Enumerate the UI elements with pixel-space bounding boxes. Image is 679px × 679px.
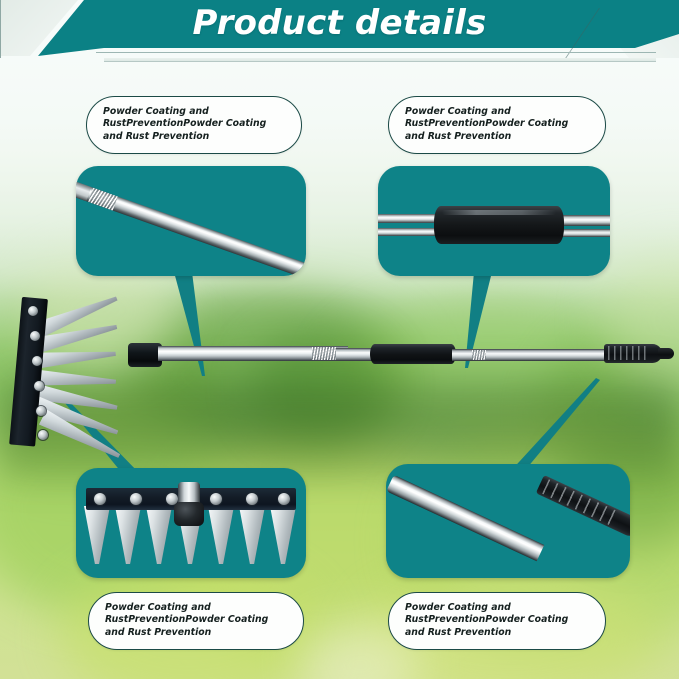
callout-bottom-left: Powder Coating and RustPreventionPowder … <box>88 592 304 650</box>
detail-steel-pole <box>76 180 306 276</box>
detail-rake-tine <box>270 506 296 564</box>
detail-rake-bolt <box>94 493 106 505</box>
callout-top-right: Powder Coating and RustPreventionPowder … <box>388 96 606 154</box>
detail-socket-connector <box>174 482 204 524</box>
detail-rake-bolt <box>210 493 222 505</box>
rake-middle-foam-grip <box>370 344 456 364</box>
detail-end-grip-ribs <box>542 479 618 526</box>
rake-head-bolt <box>34 381 44 391</box>
main-product-rake <box>0 280 679 480</box>
rake-socket-connector <box>128 343 162 367</box>
detail-rake-tine <box>146 506 172 564</box>
header-banner: Product details <box>0 0 679 66</box>
detail-end-pole <box>386 475 544 561</box>
rake-head-bolt <box>28 306 38 316</box>
detail-rake-tine <box>208 506 234 564</box>
detail-rake-bolt <box>278 493 290 505</box>
detail-rake-bolt <box>130 493 142 505</box>
rake-head-bolt <box>38 430 48 440</box>
rake-end-grip-ribs <box>608 346 648 360</box>
callout-bottom-right: Powder Coating and RustPreventionPowder … <box>388 592 606 650</box>
rake-head <box>8 298 128 463</box>
rake-pole-thread-joint-upper <box>472 350 486 360</box>
detail-pole-right-lower <box>560 229 610 237</box>
callout-top-left: Powder Coating and RustPreventionPowder … <box>86 96 302 154</box>
header-underline-thick <box>104 58 656 62</box>
detail-panel-end-grip[interactable] <box>386 464 630 578</box>
detail-rake-tine <box>239 506 265 564</box>
detail-pole-right-upper <box>560 215 610 226</box>
detail-panel-mid-grip[interactable] <box>378 166 610 276</box>
rake-head-bolt <box>36 406 46 416</box>
detail-foam-grip-highlight <box>442 210 556 215</box>
product-details-infographic: Product details <box>0 0 679 679</box>
rake-head-bolt <box>30 331 40 341</box>
page-title: Product details <box>0 3 679 43</box>
detail-rake-bolt <box>246 493 258 505</box>
detail-pole-threading <box>88 188 118 211</box>
rake-head-bolt <box>32 356 42 366</box>
detail-rake-tine <box>115 506 141 564</box>
detail-rake-tine <box>84 506 110 564</box>
rake-pole-thread-joint <box>312 347 336 360</box>
detail-socket-cap <box>174 502 204 526</box>
header-underline-thin <box>96 52 656 53</box>
rake-end-grip-tip <box>658 348 674 359</box>
detail-end-grip-cap <box>536 475 630 539</box>
detail-panel-pole-thread[interactable] <box>76 166 306 276</box>
detail-panel-rake-head[interactable] <box>76 468 306 578</box>
